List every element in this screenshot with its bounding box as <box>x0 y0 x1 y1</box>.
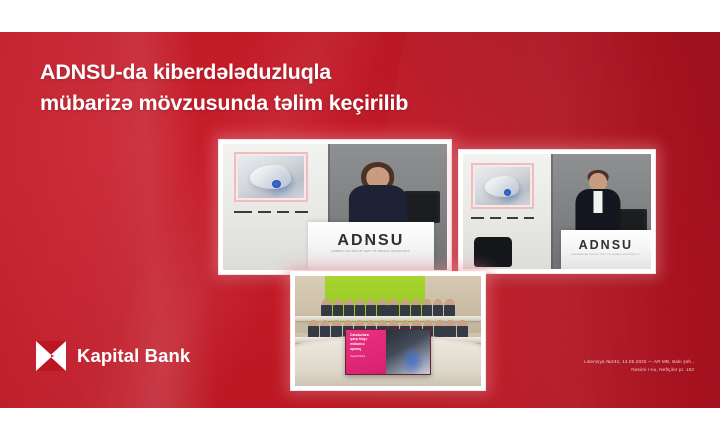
wall-poster-frame <box>471 163 535 209</box>
podium-logo-text: ADNSU <box>332 233 411 249</box>
slide-line-4: aparaq <box>350 347 383 352</box>
podium-left: ADNSU AZƏRBAYCAN DÖVLƏT NEFT VƏ SƏNAYE U… <box>308 222 433 270</box>
lecture-room-left: ADNSU AZƏRBAYCAN DÖVLƏT NEFT VƏ SƏNAYE U… <box>223 144 447 270</box>
podium-logo-subtext: AZƏRBAYCAN DÖVLƏT NEFT VƏ SƏNAYE UNIVERS… <box>572 253 640 255</box>
dash <box>471 217 485 219</box>
audience-person <box>366 299 376 317</box>
kapital-bank-logo-icon <box>36 341 66 371</box>
license-line-2: Nəsimi r-nu, Neftçilər pr. 153 <box>464 366 694 374</box>
audience-person <box>445 320 456 338</box>
wall-dashes <box>471 217 535 219</box>
photo-bottom: Dələduzlara qarşı birgə mübarizə aparaq … <box>291 272 485 390</box>
photo-left-scene: ADNSU AZƏRBAYCAN DÖVLƏT NEFT VƏ SƏNAYE U… <box>223 144 447 270</box>
kapital-bank-brand: Kapital Bank <box>36 341 190 371</box>
wall-poster-image <box>475 167 531 205</box>
speaker-person <box>576 170 621 237</box>
audience-person <box>355 299 365 317</box>
podium-logo-text: ADNSU <box>572 239 640 252</box>
slide-image <box>386 330 429 374</box>
photo-right-scene: ADNSU AZƏRBAYCAN DÖVLƏT NEFT VƏ SƏNAYE U… <box>463 154 651 269</box>
dash <box>295 211 308 213</box>
wall-poster-frame <box>234 152 308 202</box>
presentation-slide: Dələduzlara qarşı birgə mübarizə aparaq … <box>345 329 431 375</box>
dash <box>258 211 271 213</box>
audience-person <box>388 299 398 317</box>
wall-poster-image <box>238 156 304 198</box>
shirt <box>594 191 603 214</box>
page-title: ADNSU-da kiberdələduzluqla mübarizə mövz… <box>40 57 510 118</box>
wall-dashes <box>234 211 308 213</box>
license-note: Lisenziya №244, 14.05.2025 — AR MB, Bakı… <box>464 358 694 374</box>
office-chair <box>474 237 512 267</box>
podium-logo-subtext: AZƏRBAYCAN DÖVLƏT NEFT VƏ SƏNAYE UNIVERS… <box>332 251 411 253</box>
audience-row-back <box>295 299 481 317</box>
audience-person <box>411 299 421 317</box>
photo-right: ADNSU AZƏRBAYCAN DÖVLƏT NEFT VƏ SƏNAYE U… <box>459 150 655 273</box>
headline-line-2: mübarizə mövzusunda təlim keçirilib <box>40 88 510 119</box>
audience-person <box>422 299 432 317</box>
slide-text-panel: Dələduzlara qarşı birgə mübarizə aparaq … <box>346 330 386 374</box>
wall-seam <box>551 154 553 269</box>
audience-person <box>457 320 468 338</box>
headline-line-1: ADNSU-da kiberdələduzluqla <box>40 60 331 84</box>
dash <box>490 217 501 219</box>
podium-logo-left: ADNSU AZƏRBAYCAN DÖVLƏT NEFT VƏ SƏNAYE U… <box>332 233 411 253</box>
kapital-bank-wordmark: Kapital Bank <box>77 347 190 366</box>
audience-person <box>331 320 342 338</box>
auditorium: Dələduzlara qarşı birgə mübarizə aparaq … <box>295 276 481 386</box>
photo-bottom-scene: Dələduzlara qarşı birgə mübarizə aparaq … <box>295 276 481 386</box>
audience-person <box>400 299 410 317</box>
audience-person <box>308 320 319 338</box>
banner-image: ADNSU-da kiberdələduzluqla mübarizə mövz… <box>0 0 720 446</box>
license-line-1: Lisenziya №244, 14.05.2025 — AR MB, Bakı… <box>464 358 694 366</box>
photo-left: ADNSU AZƏRBAYCAN DÖVLƏT NEFT VƏ SƏNAYE U… <box>219 140 451 274</box>
dash <box>234 211 252 213</box>
podium-right: ADNSU AZƏRBAYCAN DÖVLƏT NEFT VƏ SƏNAYE U… <box>561 230 651 269</box>
audience-person <box>320 320 331 338</box>
slide-brand: Kapital Bank <box>350 355 383 359</box>
lecture-room-right: ADNSU AZƏRBAYCAN DÖVLƏT NEFT VƏ SƏNAYE U… <box>463 154 651 269</box>
audience-person <box>433 299 443 317</box>
audience-person <box>333 299 343 317</box>
audience-person <box>434 320 445 338</box>
dash <box>277 211 290 213</box>
dash <box>507 217 518 219</box>
audience-person <box>377 299 387 317</box>
audience-person <box>344 299 354 317</box>
dash <box>524 217 535 219</box>
audience-person <box>321 299 331 317</box>
monitor <box>404 191 440 224</box>
audience-person <box>444 299 454 317</box>
podium-logo-right: ADNSU AZƏRBAYCAN DÖVLƏT NEFT VƏ SƏNAYE U… <box>572 239 640 256</box>
